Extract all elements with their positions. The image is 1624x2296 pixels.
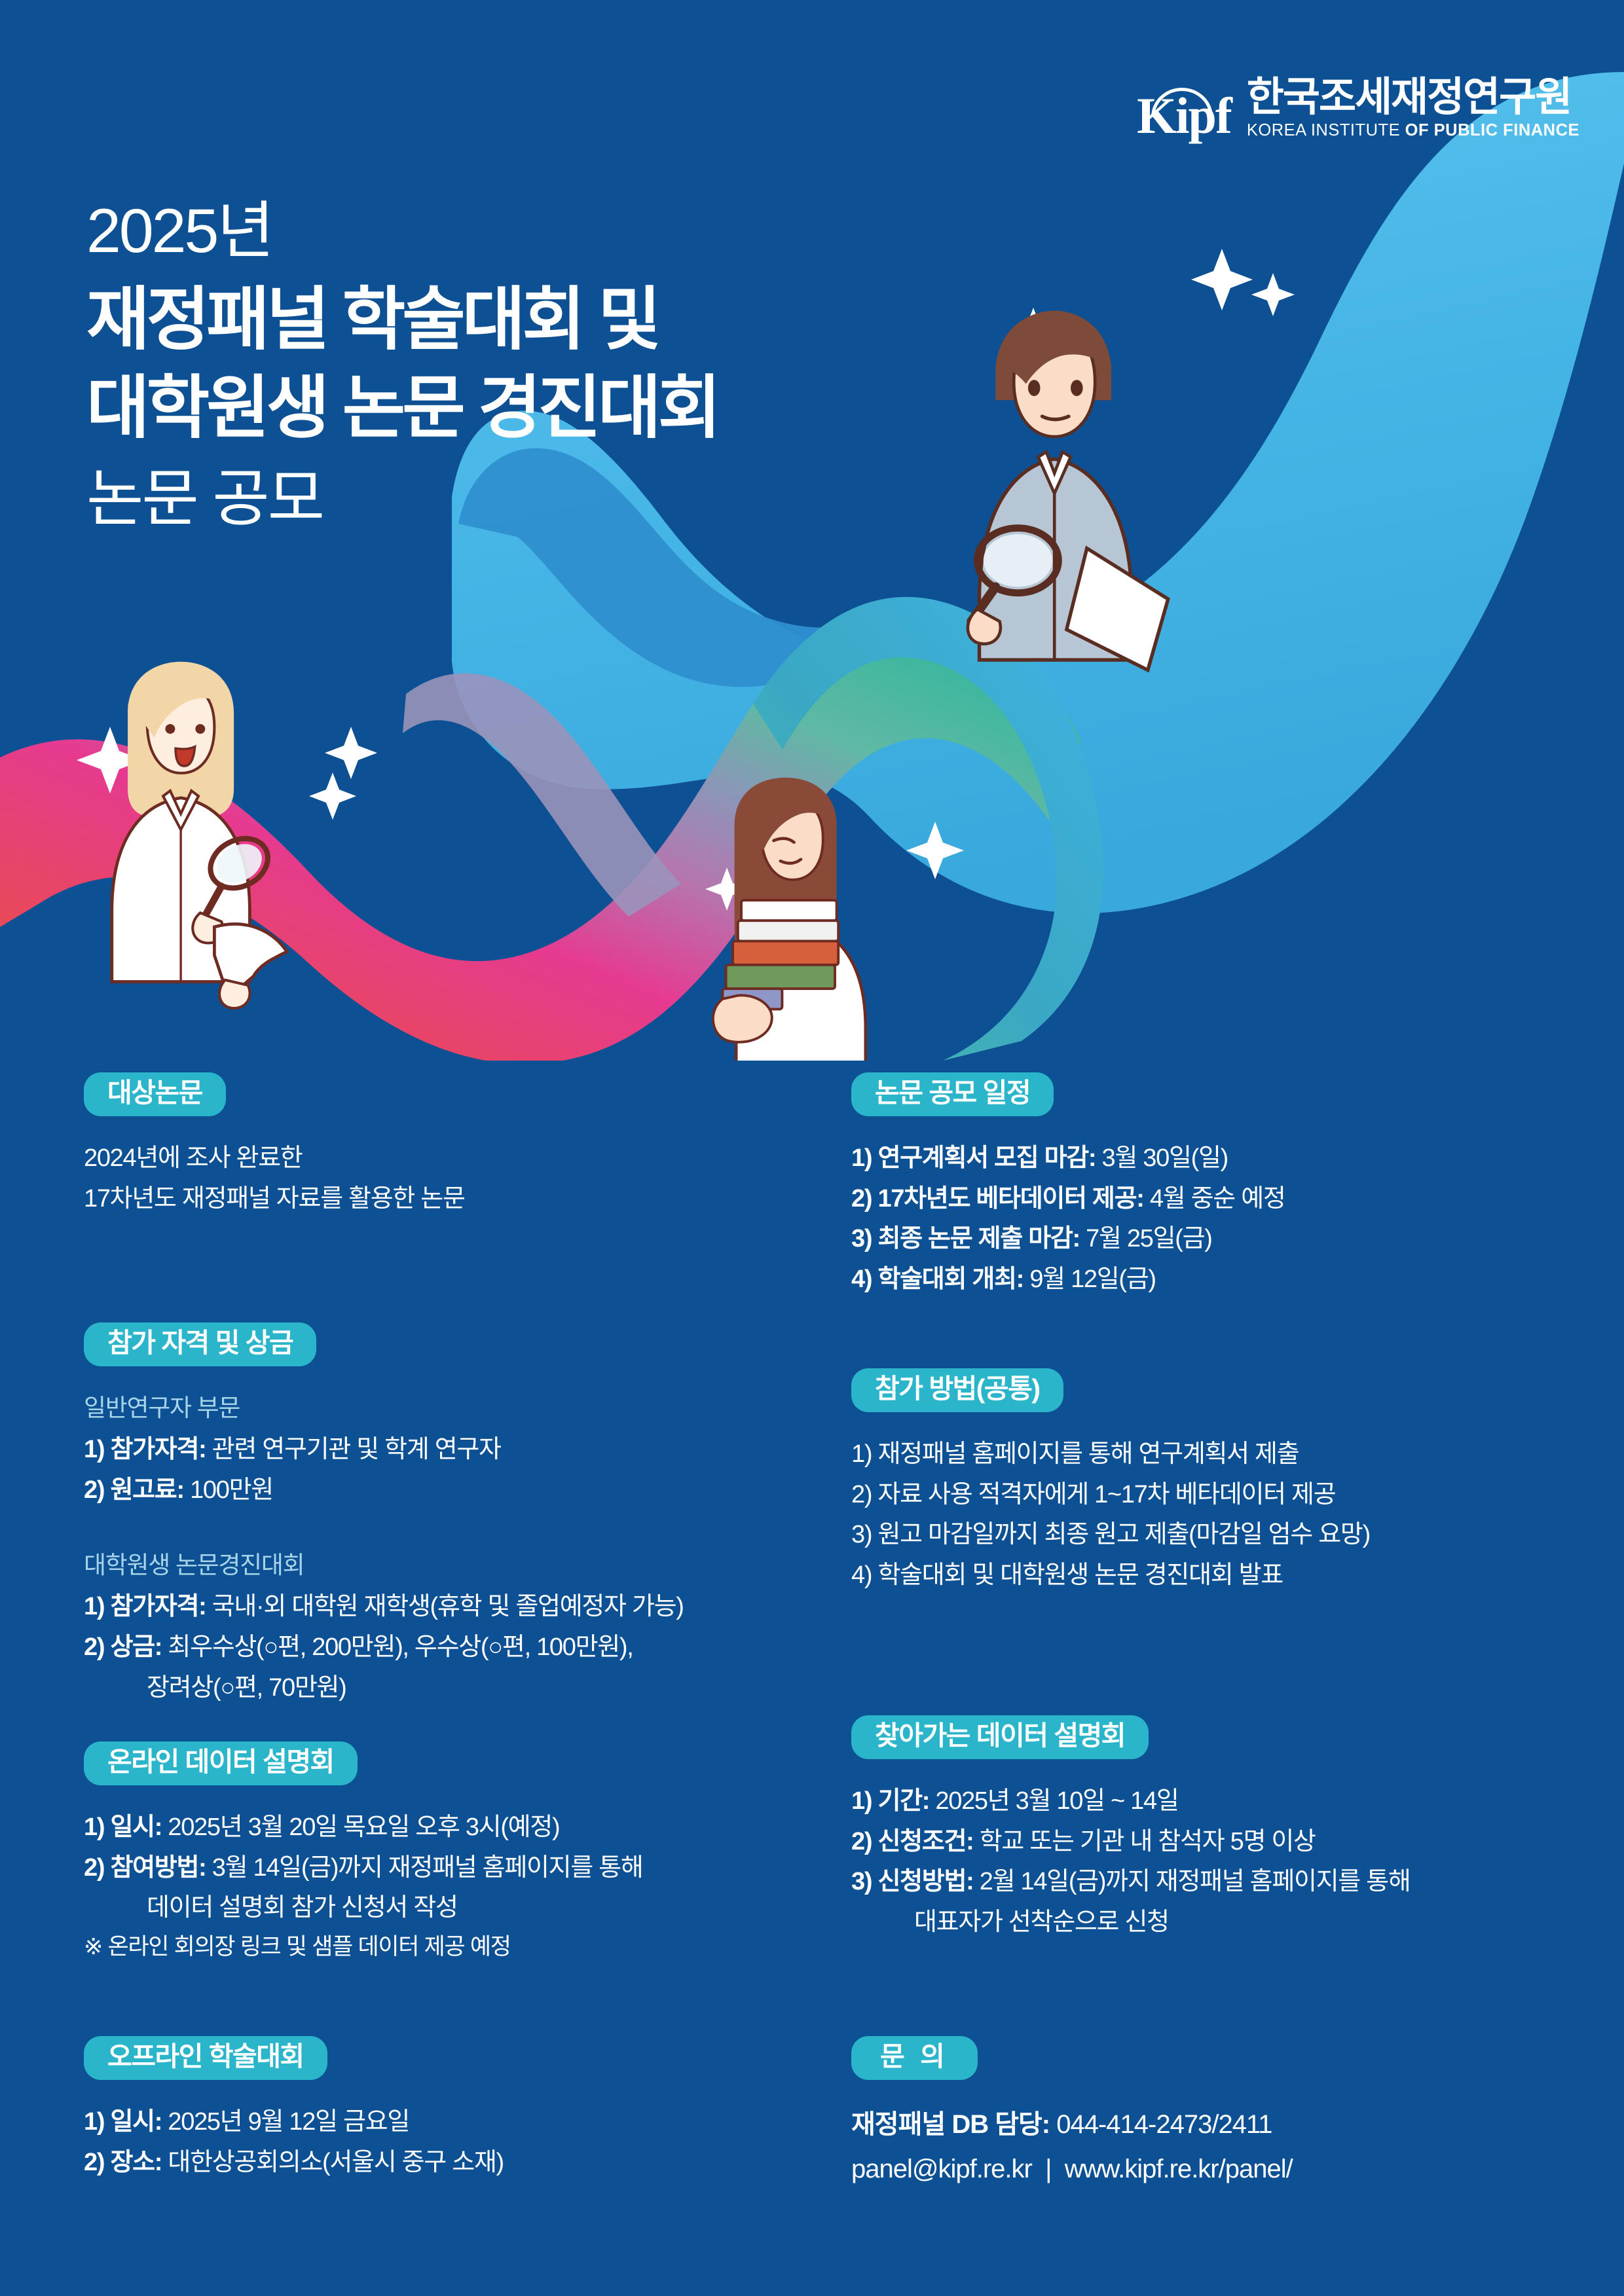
schedule-body: 1) 연구계획서 모집 마감: 3월 30일(일) 2) 17차년도 베타데이터…	[851, 1139, 1285, 1300]
online-briefing-note: ※ 온라인 회의장 링크 및 샘플 데이터 제공 예정	[84, 1929, 643, 1965]
eligibility-g2-item-2-value: 최우수상(○편, 200만원), 우수상(○편, 100만원),	[168, 1633, 633, 1661]
schedule-item-1-num: 1)	[851, 1144, 872, 1172]
woman-hair-front	[128, 663, 232, 738]
magnifier-glass	[984, 534, 1052, 587]
badge-offline-conference: 오프라인 학술대회	[84, 2036, 327, 2080]
poster-headline: 2025년 재정패널 학술대회 및 대학원생 논문 경진대회 논문 공모	[86, 196, 718, 536]
woman-hand-left	[193, 913, 223, 943]
offline-conference-item-1-num: 1)	[84, 2108, 104, 2136]
visiting-briefing-item-3: 3) 신청방법: 2월 14일(금)까지 재정패널 홈페이지를 통해	[851, 1862, 1411, 1903]
section-online-briefing: 온라인 데이터 설명회 1) 일시: 2025년 3월 20일 목요일 오후 3…	[84, 1741, 643, 1965]
eligibility-g1-item-1-value: 관련 연구기관 및 학계 연구자	[212, 1436, 501, 1463]
sparkle-icon	[309, 773, 356, 820]
section-target-paper: 대상논문 2024년에 조사 완료한 17차년도 재정패널 자료를 활용한 논문	[84, 1072, 465, 1219]
section-eligibility: 참가 자격 및 상금 일반연구자 부문 1) 참가자격: 관련 연구기관 및 학…	[84, 1322, 684, 1708]
visiting-briefing-item-3-value: 2월 14일(금)까지 재정패널 홈페이지를 통해	[980, 1868, 1411, 1895]
eligibility-g1-item-2-label: 원고료:	[110, 1476, 183, 1504]
visiting-briefing-item-2-num: 2)	[851, 1828, 872, 1855]
online-briefing-body: 1) 일시: 2025년 3월 20일 목요일 오후 3시(예정) 2) 참여방…	[84, 1808, 643, 1965]
magnifier-glass	[210, 837, 268, 890]
badge-contact: 문 의	[851, 2036, 978, 2080]
online-briefing-item-1-label: 일시:	[110, 1813, 162, 1841]
badge-target-paper: 대상논문	[84, 1072, 226, 1116]
headline-line-2: 대학원생 논문 경진대회	[86, 365, 718, 452]
schedule-item-2: 2) 17차년도 베타데이터 제공: 4월 중순 예정	[851, 1179, 1285, 1220]
kipf-logo: Kipf 한국조세재정연구원 KOREA INSTITUTE OF PUBLIC…	[1137, 77, 1579, 139]
woman-eye-right	[195, 724, 205, 734]
sparkle-icon	[906, 822, 964, 879]
kipf-logo-mark: Kipf	[1137, 89, 1231, 139]
online-briefing-item-1-num: 1)	[84, 1813, 104, 1841]
sparkle-icon	[1191, 249, 1253, 310]
kipf-logo-text: 한국조세재정연구원 KOREA INSTITUTE OF PUBLIC FINA…	[1247, 77, 1579, 139]
sparkle-icon	[325, 727, 377, 779]
badge-online-briefing: 온라인 데이터 설명회	[84, 1741, 358, 1785]
kipf-logo-english-bold: OF PUBLIC FINANCE	[1405, 121, 1579, 139]
how-to-join-item-3-num: 3)	[851, 1521, 872, 1548]
wave-ribbon-gradient	[0, 597, 1080, 1061]
eligibility-g1-item-2-value: 100만원	[190, 1476, 273, 1504]
how-to-join-item-2: 2) 자료 사용 적격자에게 1~17차 베타데이터 제공	[851, 1475, 1370, 1516]
sparkle-icon	[1251, 273, 1295, 316]
offline-conference-item-2-value: 대한상공회의소(서울시 중구 소재)	[168, 2149, 503, 2176]
woman-eye-left	[165, 724, 175, 734]
schedule-item-4-value: 9월 12일(금)	[1029, 1266, 1155, 1293]
woman-with-magnifier-illustration	[112, 662, 287, 1008]
kipf-logo-korean: 한국조세재정연구원	[1247, 77, 1571, 118]
how-to-join-body: 1) 재정패널 홈페이지를 통해 연구계획서 제출 2) 자료 사용 적격자에게…	[851, 1434, 1370, 1595]
schedule-item-4-num: 4)	[851, 1266, 872, 1293]
book-purple	[722, 989, 782, 1009]
eligibility-g2-item-1-value: 국내·외 대학원 재학생(휴학 및 졸업예정자 가능)	[212, 1593, 684, 1620]
schedule-item-1-value: 3월 30일(일)	[1102, 1144, 1228, 1172]
contact-separator: |	[1045, 2155, 1051, 2183]
offline-conference-item-1-value: 2025년 9월 12일 금요일	[168, 2108, 409, 2136]
contact-website[interactable]: www.kipf.re.kr/panel/	[1065, 2155, 1293, 2183]
eligibility-g1-item-1-num: 1)	[84, 1436, 104, 1463]
man-with-magnifier-illustration	[968, 311, 1168, 670]
book-light	[738, 920, 838, 941]
schedule-item-2-value: 4월 중순 예정	[1150, 1185, 1285, 1212]
sparkle-icon	[1014, 308, 1052, 346]
badge-schedule: 논문 공모 일정	[851, 1072, 1054, 1116]
man-eye-right	[1071, 380, 1083, 396]
eligibility-g2-continuation: 장려상(○편, 70만원)	[84, 1668, 684, 1709]
target-paper-body: 2024년에 조사 완료한 17차년도 재정패널 자료를 활용한 논문	[84, 1139, 465, 1219]
schedule-item-2-num: 2)	[851, 1185, 872, 1212]
man-hair	[995, 311, 1111, 400]
visiting-briefing-item-3-label: 신청방법:	[877, 1868, 973, 1895]
section-offline-conference: 오프라인 학술대회 1) 일시: 2025년 9월 12일 금요일 2) 장소:…	[84, 2036, 504, 2183]
headline-line-1: 재정패널 학술대회 및	[86, 276, 718, 364]
badge-visiting-briefing: 찾아가는 데이터 설명회	[851, 1715, 1149, 1759]
contact-phone: 재정패널 DB 담당: 044-414-2473/2411	[851, 2102, 1293, 2147]
contact-phone-value[interactable]: 044-414-2473/2411	[1056, 2110, 1272, 2139]
poster-canvas: Kipf 한국조세재정연구원 KOREA INSTITUTE OF PUBLIC…	[0, 0, 1624, 2296]
how-to-join-item-1-num: 1)	[851, 1440, 872, 1468]
books-woman-hands	[713, 995, 772, 1042]
online-briefing-item-1-value: 2025년 3월 20일 목요일 오후 3시(예정)	[168, 1813, 559, 1841]
section-contact: 문 의 재정패널 DB 담당: 044-414-2473/2411 panel@…	[851, 2036, 1293, 2191]
books-woman-eye-closed	[773, 839, 794, 843]
magnifier-ring	[977, 528, 1058, 593]
target-paper-line-1: 2024년에 조사 완료한	[84, 1139, 465, 1179]
schedule-item-4: 4) 학술대회 개최: 9월 12일(금)	[851, 1260, 1285, 1300]
eligibility-body: 일반연구자 부문 1) 참가자격: 관련 연구기관 및 학계 연구자 2) 원고…	[84, 1389, 684, 1708]
badge-eligibility: 참가 자격 및 상금	[84, 1322, 316, 1366]
visiting-briefing-item-1: 1) 기간: 2025년 3월 10일 ~ 14일	[851, 1781, 1411, 1822]
how-to-join-item-3-text: 원고 마감일까지 최종 원고 제출(마감일 엄수 요망)	[877, 1521, 1369, 1548]
headline-year: 2025년	[86, 196, 718, 266]
book-white	[741, 900, 837, 920]
offline-conference-item-1: 1) 일시: 2025년 9월 12일 금요일	[84, 2102, 504, 2143]
online-briefing-item-2-value: 3월 14일(금)까지 재정패널 홈페이지를 통해	[212, 1854, 643, 1882]
book-green	[726, 965, 835, 989]
visiting-briefing-item-2-label: 신청조건:	[877, 1828, 973, 1855]
eligibility-g1-item-2: 2) 원고료: 100만원	[84, 1470, 684, 1511]
visiting-briefing-continuation: 대표자가 선착순으로 신청	[851, 1903, 1411, 1943]
section-schedule: 논문 공모 일정 1) 연구계획서 모집 마감: 3월 30일(일) 2) 17…	[851, 1072, 1285, 1300]
how-to-join-item-2-num: 2)	[851, 1481, 872, 1508]
offline-conference-body: 1) 일시: 2025년 9월 12일 금요일 2) 장소: 대한상공회의소(서…	[84, 2102, 504, 2183]
offline-conference-item-1-label: 일시:	[110, 2108, 162, 2136]
visiting-briefing-item-2: 2) 신청조건: 학교 또는 기관 내 참석자 5명 이상	[851, 1822, 1411, 1863]
eligibility-spacer	[84, 1510, 684, 1539]
online-briefing-item-2-label: 참여방법:	[110, 1854, 206, 1882]
woman-paper	[214, 924, 287, 997]
woman-mouth	[175, 746, 195, 766]
eligibility-g2-item-2: 2) 상금: 최우수상(○편, 200만원), 우수상(○편, 100만원),	[84, 1628, 684, 1668]
visiting-briefing-item-1-value: 2025년 3월 10일 ~ 14일	[935, 1787, 1178, 1815]
how-to-join-item-4: 4) 학술대회 및 대학원생 논문 경진대회 발표	[851, 1556, 1370, 1596]
target-paper-line-2: 17차년도 재정패널 자료를 활용한 논문	[84, 1179, 465, 1220]
online-briefing-item-2: 2) 참여방법: 3월 14일(금)까지 재정패널 홈페이지를 통해	[84, 1848, 643, 1889]
how-to-join-item-1: 1) 재정패널 홈페이지를 통해 연구계획서 제출	[851, 1434, 1370, 1475]
man-hair-front	[995, 311, 1111, 384]
visiting-briefing-item-1-num: 1)	[851, 1787, 872, 1815]
eligibility-g2-item-2-num: 2)	[84, 1633, 104, 1661]
schedule-item-3-value: 7월 25일(금)	[1086, 1225, 1211, 1252]
man-shirt	[980, 459, 1132, 660]
online-briefing-item-2-num: 2)	[84, 1854, 104, 1882]
woman-shirt	[112, 798, 250, 982]
wave-ribbon-green	[753, 597, 1103, 1061]
schedule-item-3-num: 3)	[851, 1225, 872, 1252]
how-to-join-item-4-text: 학술대회 및 대학원생 논문 경진대회 발표	[877, 1561, 1283, 1589]
kipf-logo-english-light: KOREA INSTITUTE	[1247, 121, 1405, 139]
contact-links: panel@kipf.re.kr | www.kipf.re.kr/panel/	[851, 2147, 1293, 2191]
sparkle-icon	[705, 867, 748, 911]
schedule-item-3-label: 최종 논문 제출 마감:	[877, 1225, 1079, 1252]
eligibility-group2-title: 대학원생 논문경진대회	[84, 1546, 684, 1584]
books-woman-hair-front	[735, 779, 837, 850]
kipf-logo-english: KOREA INSTITUTE OF PUBLIC FINANCE	[1247, 122, 1579, 139]
books-woman-tshirt	[736, 924, 866, 1061]
visiting-briefing-item-3-num: 3)	[851, 1868, 872, 1895]
man-hand	[968, 610, 1001, 644]
eligibility-group1-title: 일반연구자 부문	[84, 1389, 684, 1427]
woman-hugging-books-illustration	[713, 778, 866, 1061]
eligibility-g1-item-1-label: 참가자격:	[110, 1436, 206, 1463]
how-to-join-item-1-text: 재정패널 홈페이지를 통해 연구계획서 제출	[877, 1440, 1299, 1468]
how-to-join-item-2-text: 자료 사용 적격자에게 1~17차 베타데이터 제공	[877, 1481, 1335, 1508]
books-woman-mouth	[781, 860, 801, 864]
man-eye-left	[1028, 380, 1041, 396]
section-visiting-briefing: 찾아가는 데이터 설명회 1) 기간: 2025년 3월 10일 ~ 14일 2…	[851, 1715, 1411, 1942]
eligibility-g2-item-2-label: 상금:	[110, 1633, 162, 1661]
wave-violet-band	[403, 673, 681, 917]
how-to-join-item-3: 3) 원고 마감일까지 최종 원고 제출(마감일 엄수 요망)	[851, 1515, 1370, 1556]
schedule-item-2-label: 17차년도 베타데이터 제공:	[877, 1185, 1143, 1212]
visiting-briefing-item-2-value: 학교 또는 기관 내 참석자 5명 이상	[980, 1828, 1316, 1855]
headline-line-3: 논문 공모	[86, 462, 718, 536]
eligibility-g2-item-1-num: 1)	[84, 1593, 104, 1620]
online-briefing-item-1: 1) 일시: 2025년 3월 20일 목요일 오후 3시(예정)	[84, 1808, 643, 1848]
man-paper	[1067, 549, 1168, 670]
woman-hair	[128, 662, 234, 816]
schedule-item-1: 1) 연구계획서 모집 마감: 3월 30일(일)	[851, 1139, 1285, 1179]
poster-content: 대상논문 2024년에 조사 완료한 17차년도 재정패널 자료를 활용한 논문…	[0, 1061, 1624, 2296]
book-orange	[733, 941, 838, 964]
woman-hand-right	[219, 980, 249, 1008]
schedule-item-3: 3) 최종 논문 제출 마감: 7월 25일(금)	[851, 1219, 1285, 1260]
visiting-briefing-item-1-label: 기간:	[877, 1787, 929, 1815]
woman-face	[147, 685, 215, 773]
badge-how-to-join: 참가 방법(공통)	[851, 1368, 1063, 1412]
visiting-briefing-body: 1) 기간: 2025년 3월 10일 ~ 14일 2) 신청조건: 학교 또는…	[851, 1781, 1411, 1942]
man-collar	[1038, 452, 1071, 494]
contact-email[interactable]: panel@kipf.re.kr	[851, 2155, 1032, 2183]
offline-conference-item-2-label: 장소:	[110, 2149, 162, 2176]
eligibility-g1-item-2-num: 2)	[84, 1476, 104, 1504]
eligibility-g2-item-1-label: 참가자격:	[110, 1593, 206, 1620]
sparkle-icon	[77, 727, 143, 793]
section-how-to-join: 참가 방법(공통) 1) 재정패널 홈페이지를 통해 연구계획서 제출 2) 자…	[851, 1368, 1370, 1595]
contact-phone-label: 재정패널 DB 담당:	[851, 2110, 1050, 2139]
books-woman-face	[762, 800, 823, 880]
offline-conference-item-2-num: 2)	[84, 2149, 104, 2176]
man-face	[1014, 329, 1095, 437]
woman-collar	[163, 791, 198, 829]
books-woman-hair	[735, 778, 837, 957]
magnifier-ring	[202, 829, 276, 898]
magnifier-handle	[204, 886, 221, 919]
how-to-join-item-4-num: 4)	[851, 1561, 872, 1589]
online-briefing-continuation: 데이터 설명회 참가 신청서 작성	[84, 1888, 643, 1929]
offline-conference-item-2: 2) 장소: 대한상공회의소(서울시 중구 소재)	[84, 2143, 504, 2183]
man-mouth	[1043, 416, 1069, 420]
contact-body: 재정패널 DB 담당: 044-414-2473/2411 panel@kipf…	[851, 2102, 1293, 2191]
schedule-item-4-label: 학술대회 개최:	[877, 1266, 1024, 1293]
eligibility-g1-item-1: 1) 참가자격: 관련 연구기관 및 학계 연구자	[84, 1430, 684, 1470]
eligibility-g2-item-1: 1) 참가자격: 국내·외 대학원 재학생(휴학 및 졸업예정자 가능)	[84, 1587, 684, 1628]
magnifier-handle	[971, 587, 995, 621]
schedule-item-1-label: 연구계획서 모집 마감:	[877, 1144, 1096, 1172]
